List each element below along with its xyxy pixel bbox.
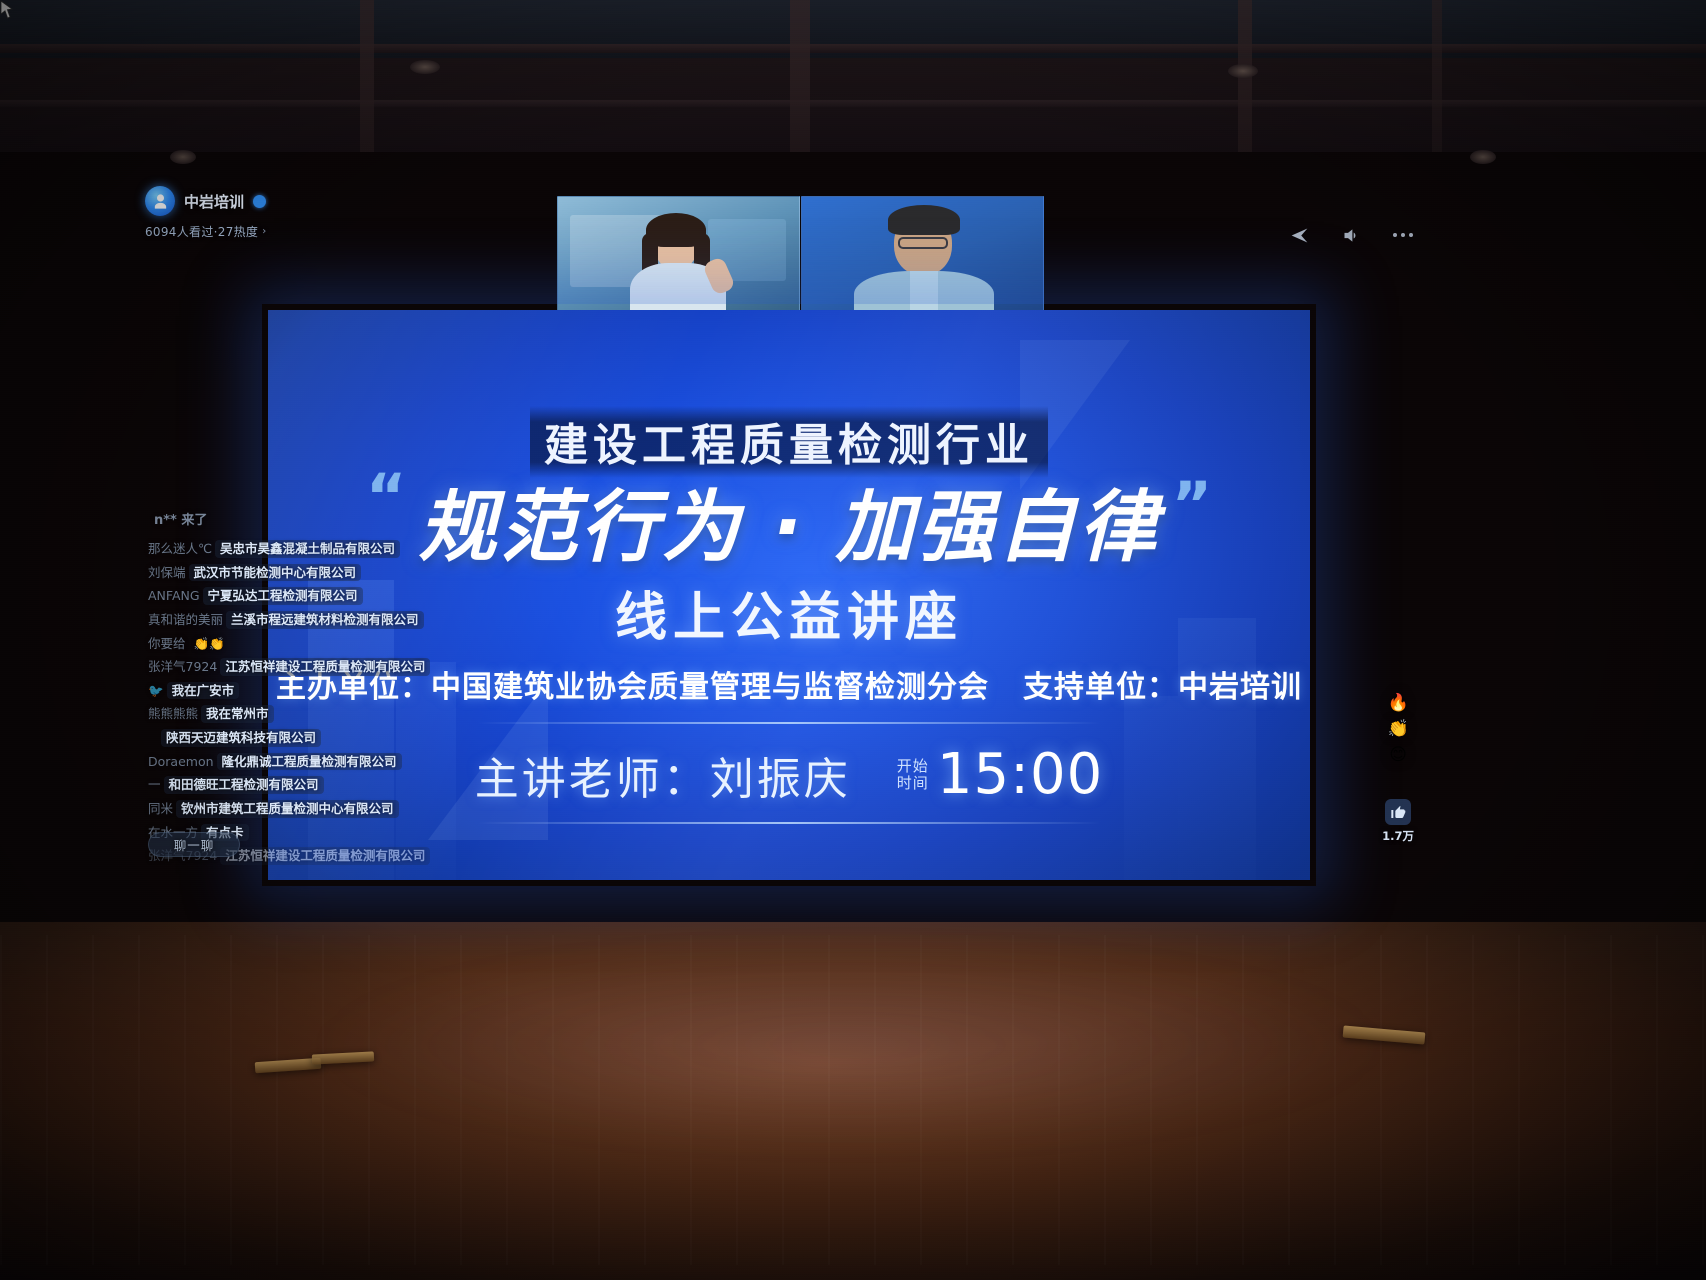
- slide-headline-text: 规范行为 · 加强自律: [419, 465, 1160, 577]
- chat-text: 江苏恒祥建设工程质量检测有限公司: [220, 847, 430, 865]
- chat-text: 我在广安市: [167, 682, 240, 700]
- organizer-value: 中国建筑业协会质量管理与监督检测分会: [431, 670, 989, 705]
- reaction-clap-icon[interactable]: 👏: [1387, 721, 1408, 738]
- start-time-label-line2: 时间: [897, 775, 929, 792]
- chat-message: 熊熊熊熊 我在常州市: [148, 705, 438, 723]
- chat-message-list[interactable]: n** 来了 那么迷人℃ 吴忠市昊鑫混凝土制品有限公司 刘保端 武汉市节能检测中…: [148, 508, 438, 865]
- chat-text: 陕西天迈建筑科技有限公司: [161, 729, 321, 747]
- reaction-fire-icon[interactable]: 🔥: [1387, 695, 1408, 712]
- chat-username: 一: [148, 777, 161, 793]
- chat-message: 陕西天迈建筑科技有限公司: [148, 729, 438, 747]
- account-name: 中岩培训: [184, 191, 244, 212]
- viewer-stats-text: 6094人看过·27热度: [145, 223, 258, 240]
- viewer-stats-row[interactable]: 6094人看过·27热度 ›: [145, 223, 267, 240]
- chat-message: 同米 钦州市建筑工程质量检测中心有限公司: [148, 800, 438, 818]
- room-scene: 建设工程质量检测行业 “ 规范行为 · 加强自律 ” 线上公益讲座 主办单位：中…: [0, 0, 1706, 1280]
- camera-video-2: [802, 197, 1043, 325]
- floor-screen-reflection: [300, 940, 1400, 1150]
- avatar-icon[interactable]: [145, 186, 175, 216]
- supporter-value: 中岩培训: [1178, 670, 1302, 705]
- like-button[interactable]: 1.7万: [1382, 799, 1414, 844]
- camera-tile-participant-2[interactable]: [801, 196, 1044, 326]
- camera-video-1: [558, 197, 799, 325]
- chat-text: 武汉市节能检测中心有限公司: [189, 564, 362, 582]
- chat-text: 钦州市建筑工程质量检测中心有限公司: [176, 800, 399, 818]
- chat-username: 熊熊熊熊: [148, 706, 198, 722]
- camera-tile-participant-1[interactable]: [557, 196, 800, 326]
- chat-message: Doraemon 隆化鼎诚工程质量检测有限公司: [148, 753, 438, 771]
- chat-username: 🐦: [148, 683, 164, 699]
- chat-username: 张洋气7924: [148, 659, 217, 675]
- chat-text: 宁夏弘达工程检测有限公司: [203, 587, 363, 605]
- live-stream-surface: 建设工程质量检测行业 “ 规范行为 · 加强自律 ” 线上公益讲座 主办单位：中…: [0, 0, 1706, 922]
- start-time-label-line1: 开始: [897, 758, 929, 775]
- chat-input-button[interactable]: 聊一聊: [148, 832, 240, 857]
- chat-text: 和田德旺工程检测有限公司: [164, 776, 324, 794]
- verified-badge-icon: [253, 195, 266, 208]
- stream-top-actions: [1286, 222, 1416, 248]
- speaker-name: 主讲老师：刘振庆: [475, 743, 851, 807]
- chevron-right-icon: ›: [262, 226, 266, 237]
- chat-username: ANFANG: [148, 588, 200, 604]
- divider-bottom: [478, 822, 1100, 824]
- account-row[interactable]: 中岩培训: [145, 186, 267, 216]
- chat-message: 🐦 我在广安市: [148, 682, 438, 700]
- chat-message: 你要给 👏👏: [148, 635, 438, 653]
- start-time-label: 开始 时间: [897, 758, 929, 792]
- chat-username: 刘保端: [148, 565, 186, 581]
- chat-message: 张洋气7924 江苏恒祥建设工程质量检测有限公司: [148, 658, 438, 676]
- sound-icon[interactable]: [1338, 222, 1364, 248]
- start-time-block: 开始 时间 15:00: [897, 742, 1103, 807]
- chat-text: 我在常州市: [201, 705, 274, 723]
- chat-text: 👏👏: [189, 635, 230, 653]
- chat-username: Doraemon: [148, 754, 214, 770]
- mouse-cursor: [0, 0, 13, 19]
- reaction-rail: 🔥 👏 😊 1.7万: [1382, 695, 1414, 844]
- divider-top: [478, 722, 1100, 724]
- more-icon[interactable]: [1390, 222, 1416, 248]
- chat-text: 吴忠市昊鑫混凝土制品有限公司: [215, 540, 400, 558]
- start-time-value: 15:00: [937, 742, 1103, 807]
- chat-message: 一 和田德旺工程检测有限公司: [148, 776, 438, 794]
- chat-message: 刘保端 武汉市节能检测中心有限公司: [148, 564, 438, 582]
- supporter-label: 支持单位：: [1023, 670, 1178, 705]
- reaction-smile-icon[interactable]: 😊: [1389, 747, 1407, 764]
- slide-subhead-text: 线上公益讲座: [615, 588, 963, 648]
- quote-close-mark: ”: [1171, 483, 1212, 526]
- share-icon[interactable]: [1286, 222, 1312, 248]
- thumbs-up-icon: [1385, 799, 1411, 825]
- stream-header: 中岩培训 6094人看过·27热度 ›: [145, 186, 267, 240]
- chat-username: 你要给: [148, 636, 186, 652]
- chat-input-button-label: 聊一聊: [174, 835, 215, 854]
- system-join-notice: n** 来了: [148, 508, 438, 534]
- like-count: 1.7万: [1382, 828, 1414, 844]
- chat-message: ANFANG 宁夏弘达工程检测有限公司: [148, 587, 438, 605]
- chat-text: 隆化鼎诚工程质量检测有限公司: [217, 753, 402, 771]
- chat-username: 真和谐的美丽: [148, 612, 223, 628]
- chat-message: 那么迷人℃ 吴忠市昊鑫混凝土制品有限公司: [148, 540, 438, 558]
- chat-text: 兰溪市程远建筑材料检测有限公司: [226, 611, 424, 629]
- chat-text: 江苏恒祥建设工程质量检测有限公司: [220, 658, 430, 676]
- chat-message: 真和谐的美丽 兰溪市程远建筑材料检测有限公司: [148, 611, 438, 629]
- chat-username: 同米: [148, 801, 173, 817]
- chat-username: 那么迷人℃: [148, 541, 212, 557]
